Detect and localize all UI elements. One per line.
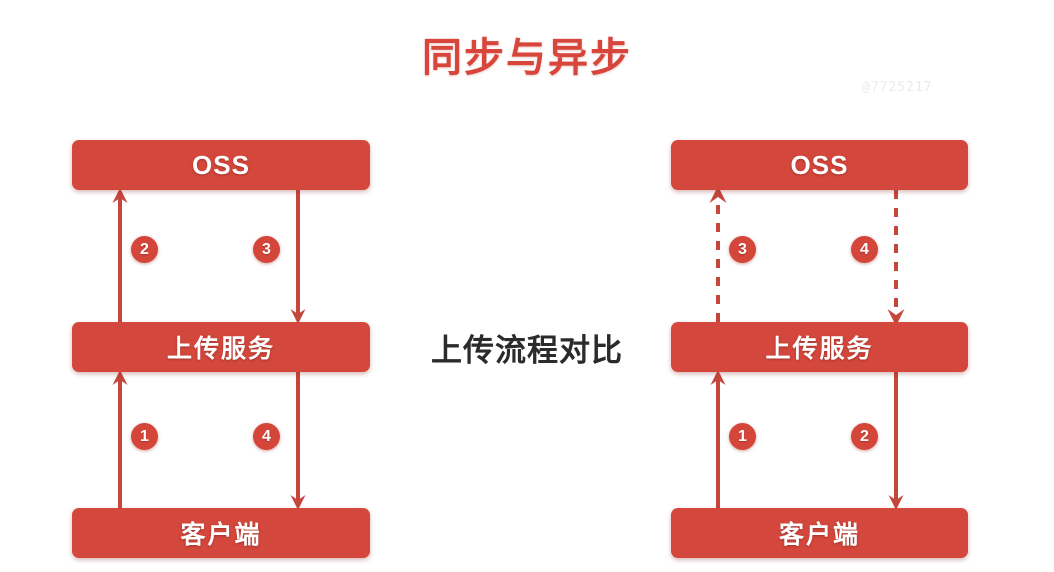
arrow-right-1 [711, 370, 726, 508]
node-box-client[interactable]: 客户端 [72, 508, 370, 558]
step-badge-1: 1 [729, 423, 756, 450]
node-box-upload-service[interactable]: 上传服务 [671, 322, 968, 372]
step-badge-4: 4 [851, 236, 878, 263]
arrow-right-4 [888, 190, 905, 326]
diagram-asynchronous-flow: OSS 上传服务 客户端 3 4 1 2 [600, 0, 1054, 572]
node-box-client[interactable]: 客户端 [671, 508, 968, 558]
arrow-left-1 [113, 370, 128, 508]
node-box-oss[interactable]: OSS [72, 140, 370, 190]
arrow-right-2 [889, 372, 904, 510]
arrow-left-3 [291, 190, 306, 324]
arrow-left-2 [113, 188, 128, 322]
node-box-oss[interactable]: OSS [671, 140, 968, 190]
step-badge-1: 1 [131, 423, 158, 450]
arrow-right-3 [710, 186, 727, 322]
arrow-left-4 [291, 372, 306, 510]
step-badge-2: 2 [131, 236, 158, 263]
step-badge-3: 3 [253, 236, 280, 263]
arrow-layer-right [600, 0, 1054, 572]
arrow-layer-left [0, 0, 420, 572]
step-badge-3: 3 [729, 236, 756, 263]
node-box-upload-service[interactable]: 上传服务 [72, 322, 370, 372]
step-badge-4: 4 [253, 423, 280, 450]
step-badge-2: 2 [851, 423, 878, 450]
diagram-synchronous-flow: OSS 上传服务 客户端 2 3 1 4 [0, 0, 420, 572]
